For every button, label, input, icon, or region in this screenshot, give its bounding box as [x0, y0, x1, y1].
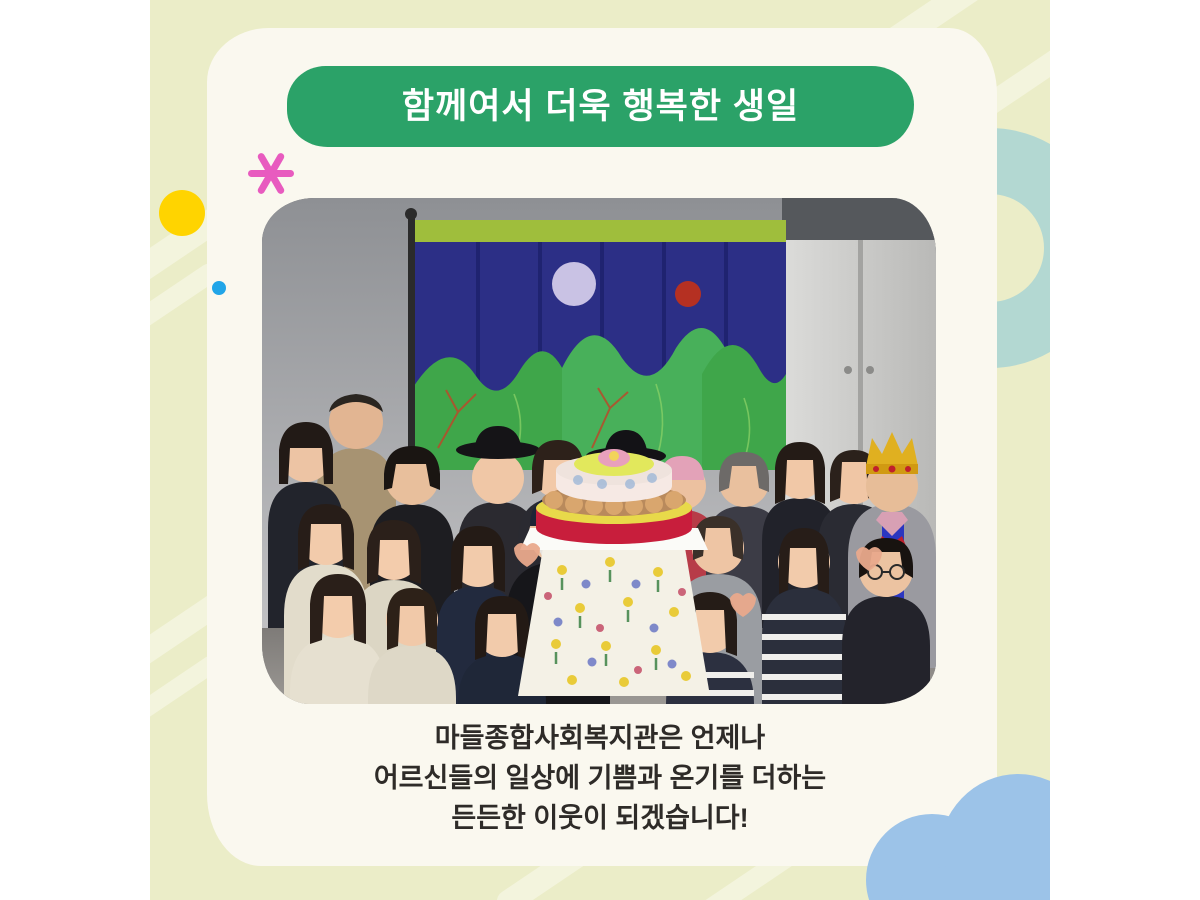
group-photo	[262, 198, 936, 704]
caption-block: 마들종합사회복지관은 언제나 어르신들의 일상에 기쁨과 온기를 더하는 든든한…	[150, 718, 1050, 838]
caption-line-1: 마들종합사회복지관은 언제나	[150, 718, 1050, 758]
asterisk-icon	[248, 150, 294, 196]
caption-line-3: 든든한 이웃이 되겠습니다!	[150, 798, 1050, 838]
caption-line-2: 어르신들의 일상에 기쁨과 온기를 더하는	[150, 758, 1050, 798]
page-title: 함께여서 더욱 행복한 생일	[402, 89, 799, 124]
title-banner: 함께여서 더욱 행복한 생일	[287, 66, 914, 147]
blue-dot-decoration	[212, 281, 226, 295]
yellow-dot-decoration	[159, 190, 205, 236]
group-photo-illustration	[262, 198, 936, 704]
poster-stage: 함께여서 더욱 행복한 생일	[0, 0, 1200, 900]
